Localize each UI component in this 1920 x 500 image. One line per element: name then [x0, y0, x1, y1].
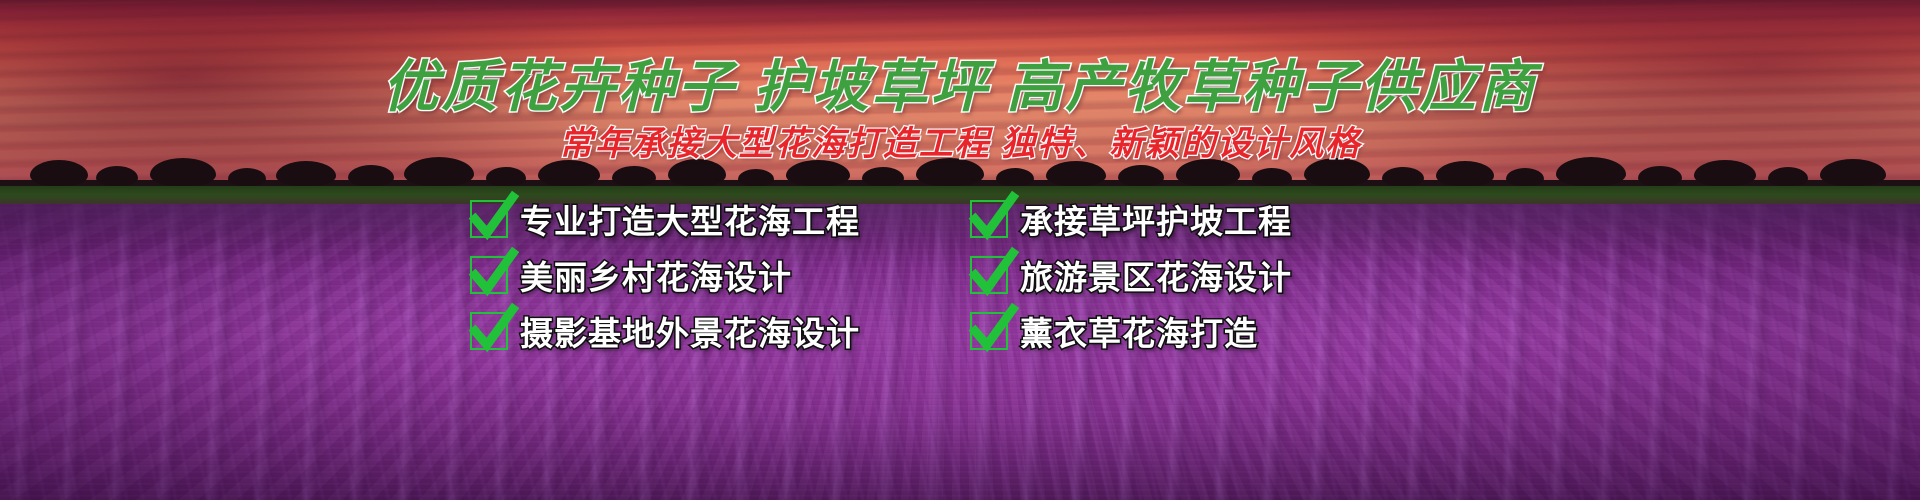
check-icon — [970, 256, 1008, 294]
check-icon — [970, 312, 1008, 350]
banner-subheadline: 常年承接大型花海打造工程 独特、新颖的设计风格 — [0, 116, 1920, 165]
checklist-item-label: 薰衣草花海打造 — [1020, 307, 1258, 355]
checklist-item: 薰衣草花海打造 — [970, 304, 1480, 358]
checklist-item-label: 旅游景区花海设计 — [1020, 251, 1292, 299]
checklist-item: 摄影基地外景花海设计 — [470, 304, 970, 358]
checklist-item: 承接草坪护坡工程 — [970, 192, 1480, 246]
checklist-item-label: 承接草坪护坡工程 — [1020, 195, 1292, 243]
checklist-item: 旅游景区花海设计 — [970, 248, 1480, 302]
checklist-item-label: 摄影基地外景花海设计 — [520, 307, 860, 355]
check-icon — [470, 256, 508, 294]
checklist-item-label: 专业打造大型花海工程 — [520, 195, 860, 243]
check-icon — [470, 200, 508, 238]
banner-headline: 优质花卉种子 护坡草坪 高产牧草种子供应商 — [0, 42, 1920, 123]
service-checklist: 专业打造大型花海工程 承接草坪护坡工程 美丽乡村花海设计 旅游景区花海设计 — [470, 192, 1480, 358]
promotional-banner: 优质花卉种子 护坡草坪 高产牧草种子供应商 常年承接大型花海打造工程 独特、新颖… — [0, 0, 1920, 500]
checklist-item: 专业打造大型花海工程 — [470, 192, 970, 246]
checklist-item: 美丽乡村花海设计 — [470, 248, 970, 302]
check-icon — [970, 200, 1008, 238]
checklist-item-label: 美丽乡村花海设计 — [520, 251, 792, 299]
banner-content: 优质花卉种子 护坡草坪 高产牧草种子供应商 常年承接大型花海打造工程 独特、新颖… — [0, 0, 1920, 500]
check-icon — [470, 312, 508, 350]
